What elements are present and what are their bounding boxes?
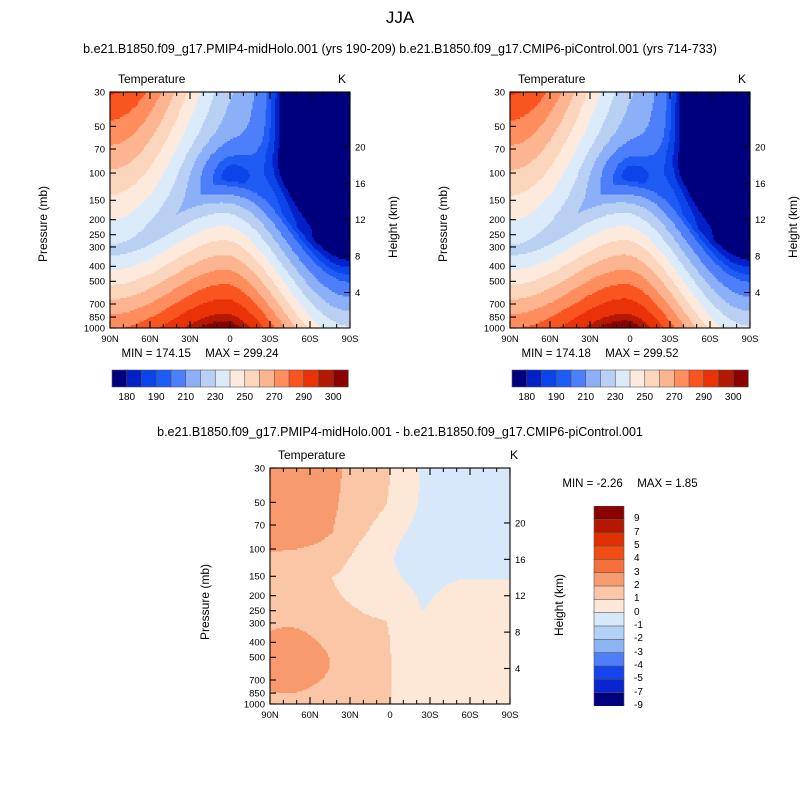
height-tick-label: 16 <box>515 555 526 566</box>
colorbar-cell[interactable] <box>594 546 624 560</box>
colorbar-cell[interactable] <box>674 370 689 387</box>
pressure-tick-label: 700 <box>249 675 265 686</box>
latitude-tick-label: 60N <box>301 710 319 721</box>
colorbar-cell[interactable] <box>733 370 748 387</box>
latitude-tick-label: 90N <box>501 334 519 345</box>
latitude-tick-label: 60S <box>462 710 479 721</box>
height-tick-label: 20 <box>755 142 766 153</box>
pressure-tick-label: 30 <box>94 87 105 98</box>
height-tick-label: 12 <box>515 591 526 602</box>
latitude-tick-label: 30S <box>262 334 279 345</box>
pressure-tick-label: 1000 <box>84 323 105 334</box>
colorbar-labels-midholo: 180190210230250270290300 <box>0 392 400 408</box>
pressure-tick-label: 850 <box>489 312 505 323</box>
colorbar-cell[interactable] <box>594 679 624 693</box>
latitude-tick-label: 30S <box>662 334 679 345</box>
colorbar-cell[interactable] <box>704 370 719 387</box>
colorbar-cell[interactable] <box>333 370 348 387</box>
pressure-tick-label: 100 <box>89 168 105 179</box>
height-tick-label: 12 <box>355 215 366 226</box>
colorbar-cell[interactable] <box>230 370 245 387</box>
colorbar-cell[interactable] <box>245 370 260 387</box>
latitude-tick-label: 90S <box>502 710 519 721</box>
height-tick-label: 20 <box>515 518 526 529</box>
colorbar-cell[interactable] <box>630 370 645 387</box>
pressure-tick-label: 400 <box>89 262 105 273</box>
pressure-tick-label: 200 <box>489 215 505 226</box>
colorbar-tick-label: 7 <box>634 527 674 538</box>
pressure-tick-label: 300 <box>89 242 105 253</box>
colorbar-cell[interactable] <box>586 370 601 387</box>
colorbar-cell[interactable] <box>171 370 186 387</box>
colorbar-cell[interactable] <box>319 370 334 387</box>
colorbar-cell[interactable] <box>594 599 624 613</box>
pressure-tick-label: 500 <box>89 277 105 288</box>
height-tick-label: 8 <box>755 252 760 263</box>
colorbar-cell[interactable] <box>571 370 586 387</box>
colorbar-tick-label: 9 <box>634 513 674 524</box>
colorbar-cell[interactable] <box>512 370 527 387</box>
pressure-tick-label: 400 <box>249 638 265 649</box>
latitude-tick-label: 30N <box>581 334 599 345</box>
latitude-tick-label: 60N <box>141 334 159 345</box>
latitude-tick-label: 90N <box>101 334 119 345</box>
colorbar-cell[interactable] <box>215 370 230 387</box>
latitude-tick-label: 30S <box>422 710 439 721</box>
latitude-tick-label: 0 <box>227 334 232 345</box>
colorbar-picontrol[interactable] <box>400 368 800 392</box>
colorbar-cell[interactable] <box>601 370 616 387</box>
colorbar-cell[interactable] <box>304 370 319 387</box>
pressure-tick-label: 500 <box>249 653 265 664</box>
colorbar-tick-label: 0 <box>634 607 674 618</box>
minmax-picontrol: MIN = 174.18 MAX = 299.52 <box>400 348 800 360</box>
latitude-tick-label: 0 <box>387 710 392 721</box>
colorbar-cell[interactable] <box>594 519 624 533</box>
minmax-difference: MIN = -2.26 MAX = 1.85 <box>500 478 760 490</box>
pressure-tick-label: 70 <box>494 144 505 155</box>
colorbar-cell[interactable] <box>660 370 675 387</box>
colorbar-cell[interactable] <box>156 370 171 387</box>
pressure-tick-label: 700 <box>489 299 505 310</box>
pressure-tick-label: 100 <box>249 544 265 555</box>
pressure-tick-label: 100 <box>489 168 505 179</box>
height-tick-label: 8 <box>515 628 520 639</box>
colorbar-cell[interactable] <box>594 653 624 667</box>
colorbar-cell[interactable] <box>594 613 624 627</box>
latitude-tick-label: 0 <box>627 334 632 345</box>
pressure-tick-label: 250 <box>249 606 265 617</box>
latitude-tick-label: 90S <box>742 334 759 345</box>
latitude-tick-label: 60S <box>702 334 719 345</box>
colorbar-cell[interactable] <box>594 559 624 573</box>
pressure-tick-label: 30 <box>254 463 265 474</box>
height-tick-label: 16 <box>755 179 766 190</box>
min-value: MIN = 174.18 <box>522 348 591 360</box>
latitude-tick-label: 90S <box>342 334 359 345</box>
pressure-tick-label: 150 <box>489 196 505 207</box>
max-value: MAX = 299.52 <box>605 348 678 360</box>
minmax-midholo: MIN = 174.15 MAX = 299.24 <box>0 348 400 360</box>
max-value: MAX = 1.85 <box>637 478 697 490</box>
colorbar-cell[interactable] <box>615 370 630 387</box>
colorbar-cell[interactable] <box>289 370 304 387</box>
colorbar-tick-label: 5 <box>634 540 674 551</box>
pressure-tick-label: 250 <box>489 230 505 241</box>
height-tick-label: 16 <box>355 179 366 190</box>
colorbar-tick-label: -1 <box>634 620 674 631</box>
latitude-tick-label: 60S <box>302 334 319 345</box>
pressure-tick-label: 300 <box>249 618 265 629</box>
colorbar-cell[interactable] <box>127 370 142 387</box>
latitude-tick-label: 30N <box>181 334 199 345</box>
colorbar-cell[interactable] <box>594 586 624 600</box>
colorbar-tick-label: -2 <box>634 633 674 644</box>
colorbar-midholo[interactable] <box>0 368 400 392</box>
pressure-tick-label: 850 <box>89 312 105 323</box>
latitude-tick-label: 60N <box>541 334 559 345</box>
pressure-tick-label: 1000 <box>484 323 505 334</box>
pressure-tick-label: 50 <box>94 122 105 133</box>
height-tick-label: 4 <box>515 664 520 675</box>
panel-picontrol: Temperature K Pressure (mb) Height (km) … <box>400 0 800 420</box>
pressure-tick-label: 150 <box>249 572 265 583</box>
colorbar-cell[interactable] <box>527 370 542 387</box>
colorbar-cell[interactable] <box>594 639 624 653</box>
colorbar-tick-label: 4 <box>634 553 674 564</box>
height-tick-label: 4 <box>755 288 760 299</box>
pressure-tick-label: 150 <box>89 196 105 207</box>
colorbar-cell[interactable] <box>260 370 275 387</box>
pressure-tick-label: 50 <box>254 498 265 509</box>
pressure-tick-label: 200 <box>249 591 265 602</box>
colorbar-tick-label: -9 <box>634 700 674 711</box>
colorbar-difference[interactable] <box>590 506 630 706</box>
pressure-tick-label: 70 <box>94 144 105 155</box>
colorbar-cell[interactable] <box>719 370 734 387</box>
colorbar-cell[interactable] <box>274 370 289 387</box>
colorbar-cell[interactable] <box>594 533 624 547</box>
pressure-tick-label: 250 <box>89 230 105 241</box>
height-tick-label: 12 <box>755 215 766 226</box>
min-value: MIN = -2.26 <box>562 478 622 490</box>
latitude-tick-label: 90N <box>261 710 279 721</box>
colorbar-cell[interactable] <box>594 573 624 587</box>
pressure-tick-label: 30 <box>494 87 505 98</box>
colorbar-labels-picontrol: 180190210230250270290300 <box>400 392 800 408</box>
height-tick-label: 4 <box>355 288 360 299</box>
colorbar-cell[interactable] <box>542 370 557 387</box>
height-tick-label: 8 <box>355 252 360 263</box>
pressure-tick-label: 200 <box>89 215 105 226</box>
colorbar-tick-label: -3 <box>634 647 674 658</box>
colorbar-tick-label: -7 <box>634 687 674 698</box>
max-value: MAX = 299.24 <box>205 348 278 360</box>
pressure-tick-label: 850 <box>249 688 265 699</box>
height-tick-label: 20 <box>355 142 366 153</box>
colorbar-tick-label: 3 <box>634 567 674 578</box>
colorbar-cell[interactable] <box>186 370 201 387</box>
panel-midholo: Temperature K Pressure (mb) Height (km) … <box>0 0 400 420</box>
difference-header: b.e21.B1850.f09_g17.PMIP4-midHolo.001 - … <box>0 425 800 439</box>
colorbar-cell[interactable] <box>112 370 127 387</box>
colorbar-cell[interactable] <box>594 626 624 640</box>
colorbar-cell[interactable] <box>594 506 624 520</box>
colorbar-tick-label: 300 <box>313 392 353 403</box>
pressure-tick-label: 500 <box>489 277 505 288</box>
colorbar-tick-label: -4 <box>634 660 674 671</box>
colorbar-cell[interactable] <box>594 666 624 680</box>
colorbar-tick-label: 1 <box>634 593 674 604</box>
min-value: MIN = 174.15 <box>122 348 191 360</box>
pressure-tick-label: 300 <box>489 242 505 253</box>
colorbar-cell[interactable] <box>201 370 216 387</box>
colorbar-cell[interactable] <box>645 370 660 387</box>
colorbar-cell[interactable] <box>594 693 624 706</box>
colorbar-tick-label: 2 <box>634 580 674 591</box>
colorbar-cell[interactable] <box>142 370 157 387</box>
pressure-tick-label: 70 <box>254 520 265 531</box>
pressure-tick-label: 700 <box>89 299 105 310</box>
colorbar-tick-label: 300 <box>713 392 753 403</box>
pressure-tick-label: 50 <box>494 122 505 133</box>
colorbar-cell[interactable] <box>556 370 571 387</box>
latitude-tick-label: 30N <box>341 710 359 721</box>
pressure-tick-label: 1000 <box>244 699 265 710</box>
colorbar-cell[interactable] <box>689 370 704 387</box>
colorbar-labels-difference: 97543210-1-2-3-4-5-7-9 <box>632 500 692 712</box>
colorbar-tick-label: -5 <box>634 673 674 684</box>
pressure-tick-label: 400 <box>489 262 505 273</box>
